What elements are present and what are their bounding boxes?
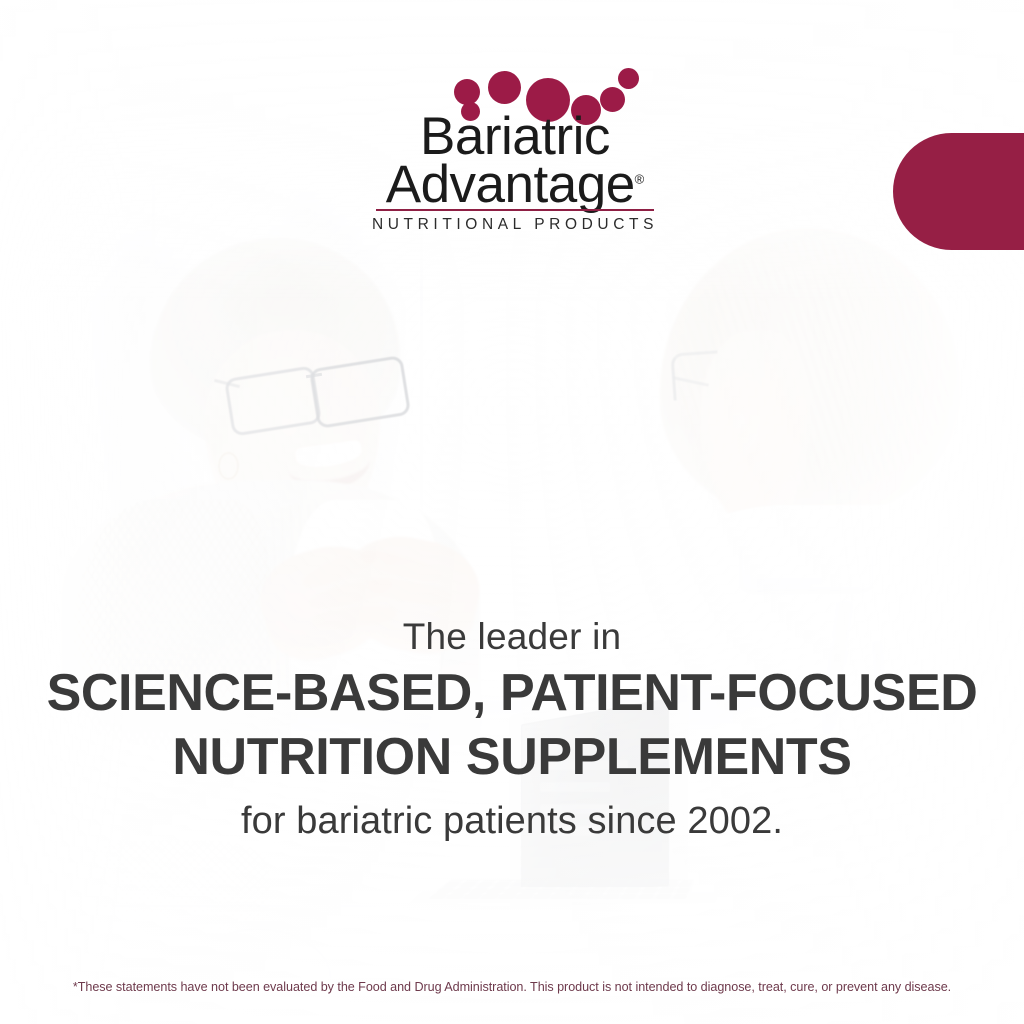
marketing-banner: Bariatric Advantage® NUTRITIONAL PRODUCT…	[0, 0, 1024, 1024]
headline-block: The leader in SCIENCE-BASED, PATIENT-FOC…	[0, 615, 1024, 845]
fda-disclaimer: *These statements have not been evaluate…	[0, 980, 1024, 994]
headline-subtext: for bariatric patients since 2002.	[0, 799, 1024, 845]
logo-dot	[488, 71, 521, 104]
registered-trademark-icon: ®	[635, 171, 645, 186]
headline-main-line1: SCIENCE-BASED, PATIENT-FOCUSED	[0, 663, 1024, 723]
logo-dot	[618, 68, 639, 89]
logo-wordmark-text: Advantage	[386, 155, 635, 214]
logo-tagline: NUTRITIONAL PRODUCTS	[360, 216, 670, 234]
logo-divider-rule	[376, 209, 654, 211]
logo-dot	[454, 79, 480, 105]
headline-eyebrow: The leader in	[0, 615, 1024, 659]
logo-wordmark-line2: Advantage®	[360, 158, 670, 211]
brand-logo: Bariatric Advantage® NUTRITIONAL PRODUCT…	[360, 66, 670, 241]
burgundy-pill-accent	[893, 133, 1024, 250]
headline-main-line2: NUTRITION SUPPLEMENTS	[0, 727, 1024, 787]
